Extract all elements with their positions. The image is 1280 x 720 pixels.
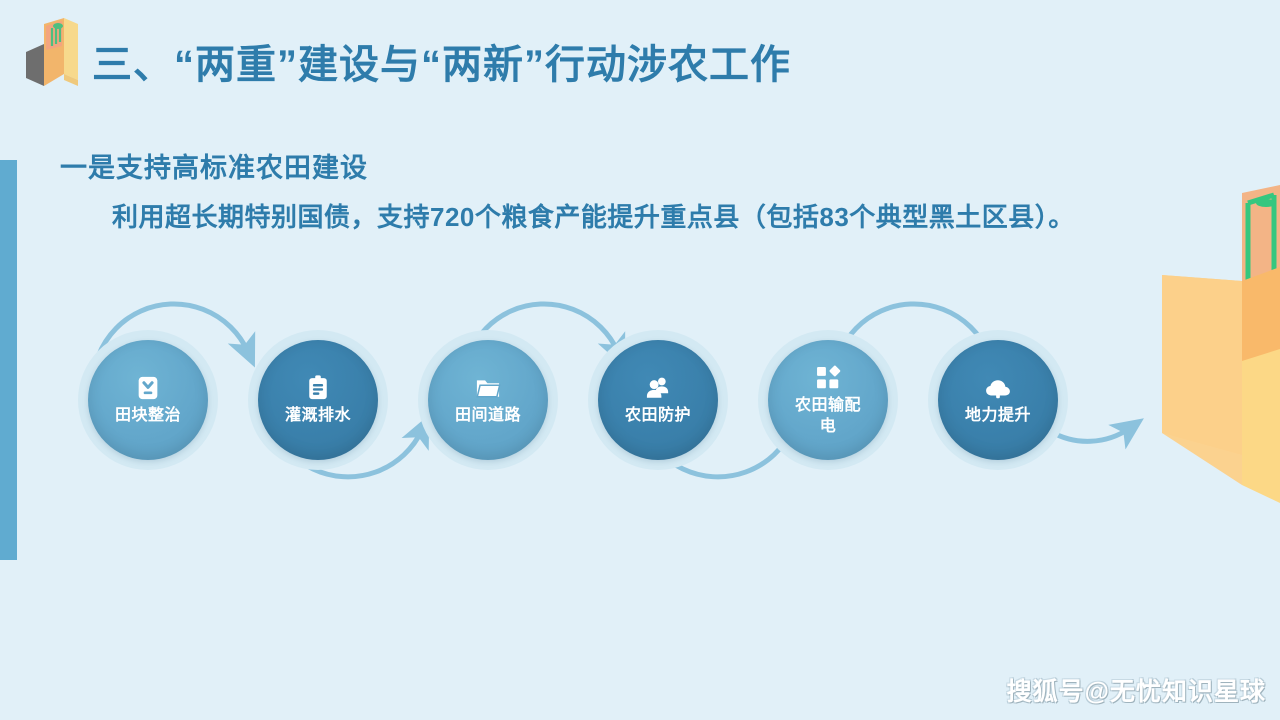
node-label: 田块整治 xyxy=(109,405,187,426)
users-icon xyxy=(644,374,672,402)
clipboard-icon xyxy=(304,374,332,402)
process-node-4[interactable]: 农田防护 xyxy=(588,330,728,470)
page-title: 三、“两重”建设与“两新”行动涉农工作 xyxy=(92,30,791,100)
lead-paragraph: 利用超长期特别国债，支持720个粮食产能提升重点县（包括83个典型黑土区县）。 xyxy=(60,194,1120,240)
process-node-3[interactable]: 田间道路 xyxy=(418,330,558,470)
land-plot-icon xyxy=(134,374,162,402)
process-node-5[interactable]: 农田输配电 xyxy=(758,330,898,470)
grid-blocks-icon xyxy=(814,364,842,392)
large-folder-icon xyxy=(1148,185,1280,535)
body-text-block: 一是支持高标准农田建设 利用超长期特别国债，支持720个粮食产能提升重点县（包括… xyxy=(60,148,1120,240)
process-node-2[interactable]: 灌溉排水 xyxy=(248,330,388,470)
node-label: 农田防护 xyxy=(619,405,697,426)
node-label: 田间道路 xyxy=(449,405,527,426)
left-accent-bar xyxy=(0,160,17,560)
node-label: 灌溉排水 xyxy=(279,405,357,426)
lead-heading: 一是支持高标准农田建设 xyxy=(60,148,1120,188)
cloud-upload-icon xyxy=(984,374,1012,402)
node-label: 农田输配电 xyxy=(789,395,867,437)
process-diagram: 田块整治 灌溉排水 xyxy=(78,300,1148,500)
slide-header: 三、“两重”建设与“两新”行动涉农工作 xyxy=(0,30,1100,100)
watermark: 搜狐号@无忧知识星球 xyxy=(1007,672,1266,708)
process-node-6[interactable]: 地力提升 xyxy=(928,330,1068,470)
folder-icon xyxy=(474,374,502,402)
process-node-1[interactable]: 田块整治 xyxy=(78,330,218,470)
slide-canvas: 三、“两重”建设与“两新”行动涉农工作 一是支持高标准农田建设 利用超长期特别国… xyxy=(0,0,1280,720)
node-label: 地力提升 xyxy=(959,405,1037,426)
